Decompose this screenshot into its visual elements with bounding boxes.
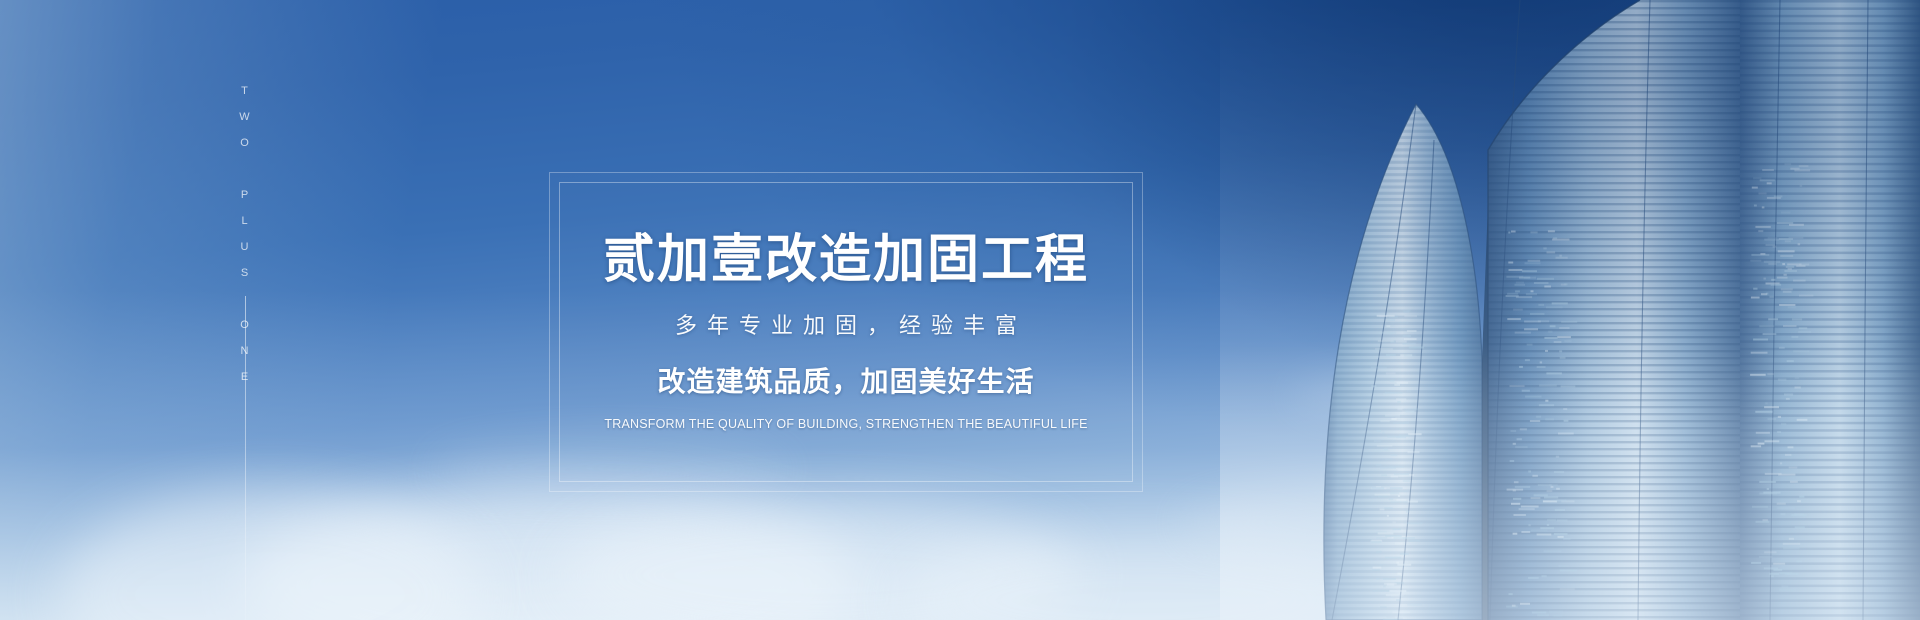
hero-text-panel-inner: 贰加壹改造加固工程 多年专业加固，经验丰富 改造建筑品质，加固美好生活 TRAN… <box>559 182 1133 482</box>
hero-banner: TWO PLUS ONE 贰加壹改造加固工程 多年专业加固，经验丰富 改造建筑品… <box>0 0 1920 620</box>
hero-english-tagline: TRANSFORM THE QUALITY OF BUILDING, STREN… <box>604 417 1087 432</box>
skyscraper-icon <box>1220 0 1920 620</box>
brand-rail-letter: T <box>228 78 262 104</box>
two-plus-one-brand-rail: TWO PLUS ONE <box>228 0 262 620</box>
brand-rail-line <box>245 296 246 620</box>
brand-rail-letter: P <box>228 182 262 208</box>
brand-rail-letter: W <box>228 104 262 130</box>
brand-rail-letter <box>228 156 262 182</box>
brand-rail-letter: U <box>228 234 262 260</box>
page-title: 贰加壹改造加固工程 <box>603 232 1089 289</box>
hero-slogan: 改造建筑品质，加固美好生活 <box>657 365 1034 399</box>
skyscraper-scene <box>1220 0 1920 620</box>
brand-rail-letter: S <box>228 260 262 286</box>
hero-text-panel: 贰加壹改造加固工程 多年专业加固，经验丰富 改造建筑品质，加固美好生活 TRAN… <box>549 172 1143 492</box>
brand-rail-letter: O <box>228 130 262 156</box>
hero-subtitle: 多年专业加固，经验丰富 <box>665 313 1027 339</box>
brand-rail-letter: L <box>228 208 262 234</box>
